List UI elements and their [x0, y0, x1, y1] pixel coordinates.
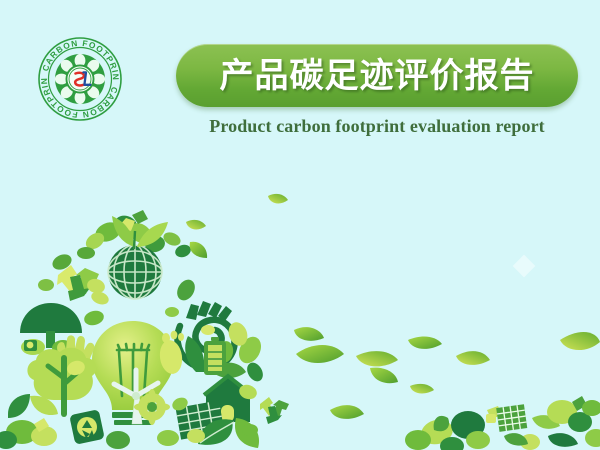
- leaf-icon: [190, 242, 207, 258]
- page-subtitle: Product carbon footprint evaluation repo…: [176, 116, 578, 137]
- leaf-icon: [560, 332, 600, 350]
- recycle-badge-icon: [69, 409, 105, 445]
- leaf-icon: [370, 368, 398, 384]
- recycle-icon-small: [260, 397, 289, 424]
- leaf-icon: [408, 337, 442, 349]
- leaf-icon: [186, 220, 206, 230]
- leaf-cluster-bottom-left: [0, 394, 58, 449]
- carbon-footprint-seal-logo: CARBON FOOTPRINT · CARBON FOOTPRINT ·: [37, 36, 123, 122]
- leaf-icon: [410, 384, 434, 394]
- leaf-icon: [296, 345, 344, 363]
- cover-header: CARBON FOOTPRINT · CARBON FOOTPRINT ·: [0, 0, 600, 160]
- footprint-cluster-main: [0, 210, 289, 449]
- leaf-icon: [456, 351, 490, 365]
- page-title: 产品碳足迹评价报告: [220, 59, 535, 93]
- leaf-icon: [330, 405, 364, 419]
- leaf-icon: [268, 194, 288, 204]
- battery-icon: [204, 337, 226, 375]
- leaf-icon: [356, 351, 398, 366]
- cover-page: CARBON FOOTPRINT · CARBON FOOTPRINT ·: [0, 0, 600, 450]
- footprint-cluster-secondary: [405, 396, 600, 450]
- leaf-icon: [294, 327, 324, 341]
- title-banner: 产品碳足迹评价报告: [176, 44, 578, 107]
